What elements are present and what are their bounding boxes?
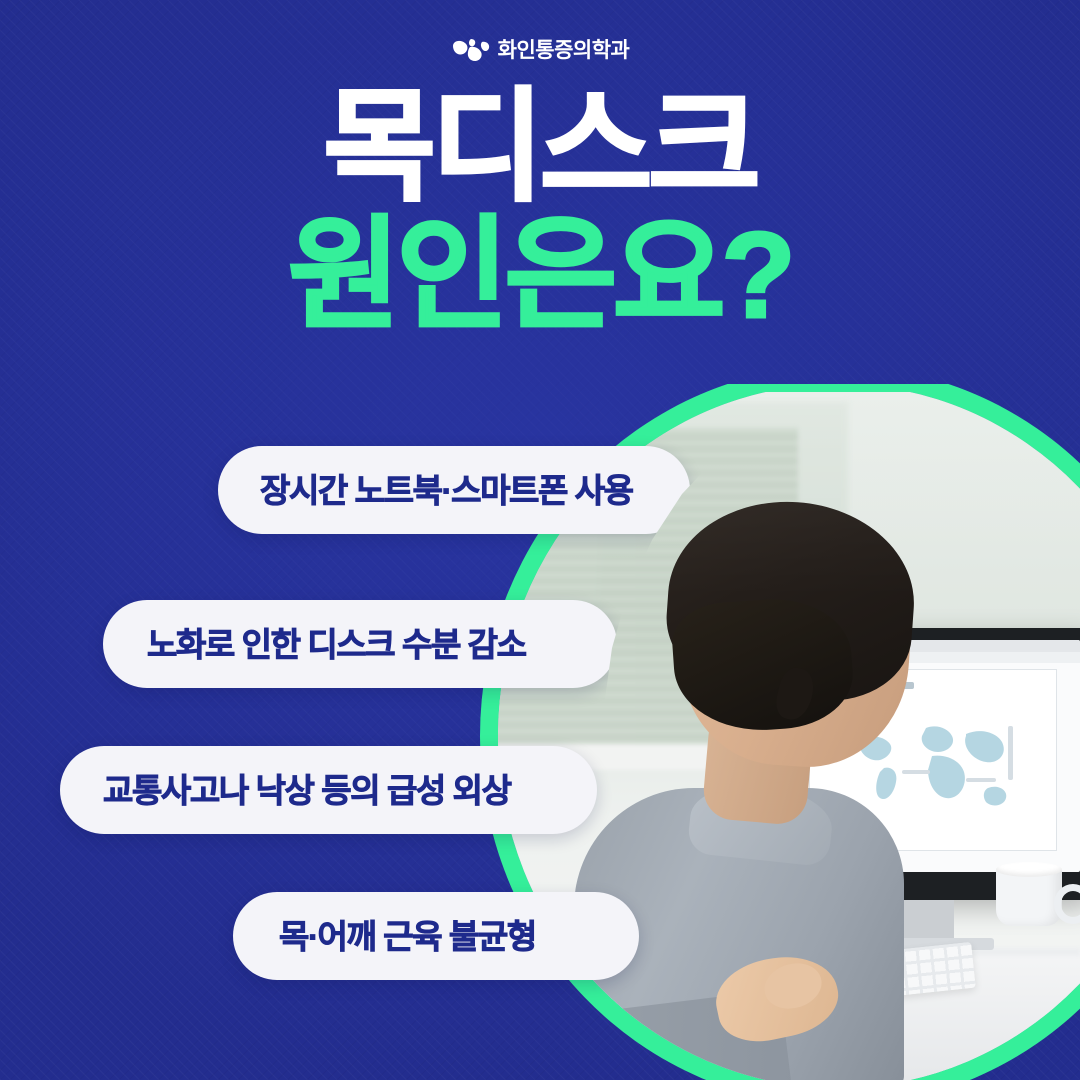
headline-line-2: 원인은요?: [0, 216, 1080, 334]
brand-logo: 화인통증의학과: [0, 33, 1080, 67]
cause-pill-1[interactable]: 장시간 노트북·스마트폰 사용: [218, 446, 690, 534]
cause-pill-4[interactable]: 목·어깨 근육 불균형: [233, 892, 639, 980]
cause-pill-4-label: 목·어깨 근육 불균형: [279, 920, 536, 953]
infographic-card: 화인통증의학과 목디스크 원인은요?: [0, 0, 1080, 1080]
cause-pill-2[interactable]: 노화로 인한 디스크 수분 감소: [103, 600, 617, 688]
headline: 목디스크 원인은요?: [0, 88, 1080, 335]
cause-pill-3[interactable]: 교통사고나 낙상 등의 급성 외상: [60, 746, 597, 834]
headline-line-1: 목디스크: [0, 88, 1080, 206]
cause-pill-2-label: 노화로 인한 디스크 수분 감소: [147, 628, 526, 661]
brand-name: 화인통증의학과: [498, 40, 630, 61]
cause-pill-1-label: 장시간 노트북·스마트폰 사용: [260, 474, 633, 507]
leaf-person-mark-icon: [451, 37, 491, 63]
cause-pill-3-label: 교통사고나 낙상 등의 급성 외상: [103, 774, 511, 807]
